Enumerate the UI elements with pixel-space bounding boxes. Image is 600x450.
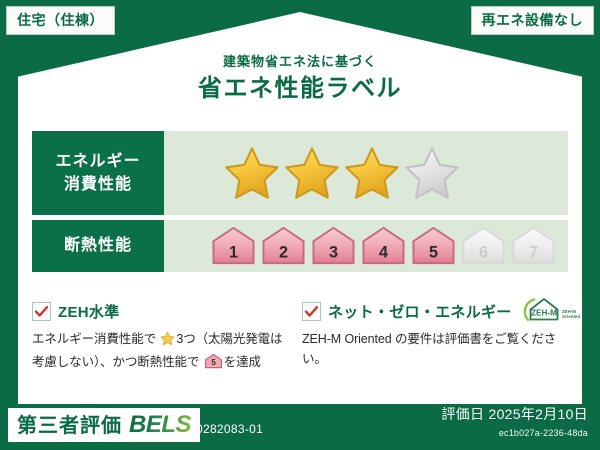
label-title-block: 建築物省エネ法に基づく 省エネ性能ラベル xyxy=(0,55,600,103)
title-subtitle: 建築物省エネ法に基づく xyxy=(0,55,600,69)
zeh-m-logo-text: ZEH-M xyxy=(531,308,557,317)
tag-renewable-energy: 再エネ設備なし xyxy=(471,6,595,35)
check-nze-body: ZEH-M Oriented の要件は評価書をご覧ください。 xyxy=(302,329,572,370)
bels-certificate-number: 0282083-01 xyxy=(196,422,263,436)
row-insulation-label-line1: 断熱性能 xyxy=(64,234,132,257)
insulation-level-achieved: 5 xyxy=(410,225,457,267)
insulation-level-achieved: 2 xyxy=(260,225,307,267)
svg-text:2: 2 xyxy=(279,243,288,261)
insulation-level-inactive: 7 xyxy=(510,225,557,267)
svg-text:1: 1 xyxy=(229,243,238,261)
inline-insulation-badge-value: 5 xyxy=(211,358,216,367)
insulation-level-achieved: 3 xyxy=(310,225,357,267)
svg-text:3: 3 xyxy=(329,243,338,261)
svg-text:4: 4 xyxy=(379,243,388,261)
certification-checks: ZEH水準 エネルギー消費性能で 3つ（太陽光発電は考慮しない）、かつ断熱性能で… xyxy=(32,300,572,376)
row-insulation-value: 1234567 xyxy=(164,220,568,272)
tag-building-type: 住宅（住棟） xyxy=(6,6,115,35)
row-energy-label-line2: 消費性能 xyxy=(64,173,132,196)
svg-text:6: 6 xyxy=(479,243,488,261)
star-filled-icon xyxy=(344,145,400,201)
svg-text:7: 7 xyxy=(529,243,538,261)
check-zeh-body: エネルギー消費性能で 3つ（太陽光発電は考慮しない）、かつ断熱性能で 5 を達成 xyxy=(32,329,290,376)
third-party-label: 第三者評価 xyxy=(17,416,122,436)
check-section-net-zero-energy: ネット・ゼロ・エネルギー ZEH-M ZEH-M Oriented ZEH-M … xyxy=(290,300,572,376)
row-energy-label-line1: エネルギー xyxy=(55,150,140,173)
insulation-level-achieved: 4 xyxy=(360,225,407,267)
row-energy-value xyxy=(164,131,568,215)
star-rating xyxy=(224,145,460,201)
check-zeh-title: ZEH水準 xyxy=(58,301,120,322)
energy-efficiency-label: 住宅（住棟） 再エネ設備なし 建築物省エネ法に基づく 省エネ性能ラベル エネルギ… xyxy=(0,0,600,450)
row-energy-consumption: エネルギー 消費性能 xyxy=(32,131,568,215)
third-party-evaluation-badge: 第三者評価 BELS xyxy=(8,408,200,442)
footer-evaluation-info: 評価日 2025年2月10日 ec1b027a-2236-48da xyxy=(441,404,588,438)
check-zeh-body-part3: を達成 xyxy=(224,355,261,369)
insulation-level-achieved: 1 xyxy=(210,225,257,267)
check-section-zeh: ZEH水準 エネルギー消費性能で 3つ（太陽光発電は考慮しない）、かつ断熱性能で… xyxy=(32,300,290,376)
evaluation-date-value: 2025年2月10日 xyxy=(488,406,588,422)
zeh-m-oriented-logo-icon: ZEH-M ZEH-M Oriented xyxy=(521,296,585,327)
inline-insulation-badge: 5 xyxy=(200,358,222,372)
star-empty-icon xyxy=(404,145,460,201)
check-nze-header: ネット・ゼロ・エネルギー ZEH-M ZEH-M Oriented xyxy=(302,300,572,322)
svg-text:5: 5 xyxy=(429,243,438,261)
insulation-level-scale: 1234567 xyxy=(210,225,557,267)
bels-logo: BELS xyxy=(129,413,191,437)
insulation-level-inactive: 6 xyxy=(460,225,507,267)
row-insulation: 断熱性能 1234567 xyxy=(32,220,568,272)
document-uuid: ec1b027a-2236-48da xyxy=(441,428,588,438)
title-main: 省エネ性能ラベル xyxy=(0,76,600,102)
check-zeh-header: ZEH水準 xyxy=(32,300,290,322)
check-zeh-body-part1: エネルギー消費性能で xyxy=(32,332,156,346)
star-filled-icon xyxy=(284,145,340,201)
performance-rows: エネルギー 消費性能 断熱性能 1234567 xyxy=(32,131,568,277)
checkbox-zeh-icon[interactable] xyxy=(32,302,51,321)
evaluation-date-label: 評価日 xyxy=(441,406,484,422)
checkbox-nze-icon[interactable] xyxy=(302,302,321,321)
star-filled-icon xyxy=(224,145,280,201)
check-nze-title: ネット・ゼロ・エネルギー xyxy=(328,301,512,322)
evaluation-date: 評価日 2025年2月10日 xyxy=(441,404,588,424)
row-insulation-label: 断熱性能 xyxy=(32,220,164,272)
row-energy-label: エネルギー 消費性能 xyxy=(32,131,164,215)
inline-star-icon xyxy=(157,335,175,349)
zeh-m-logo-sub2: Oriented xyxy=(562,314,580,319)
